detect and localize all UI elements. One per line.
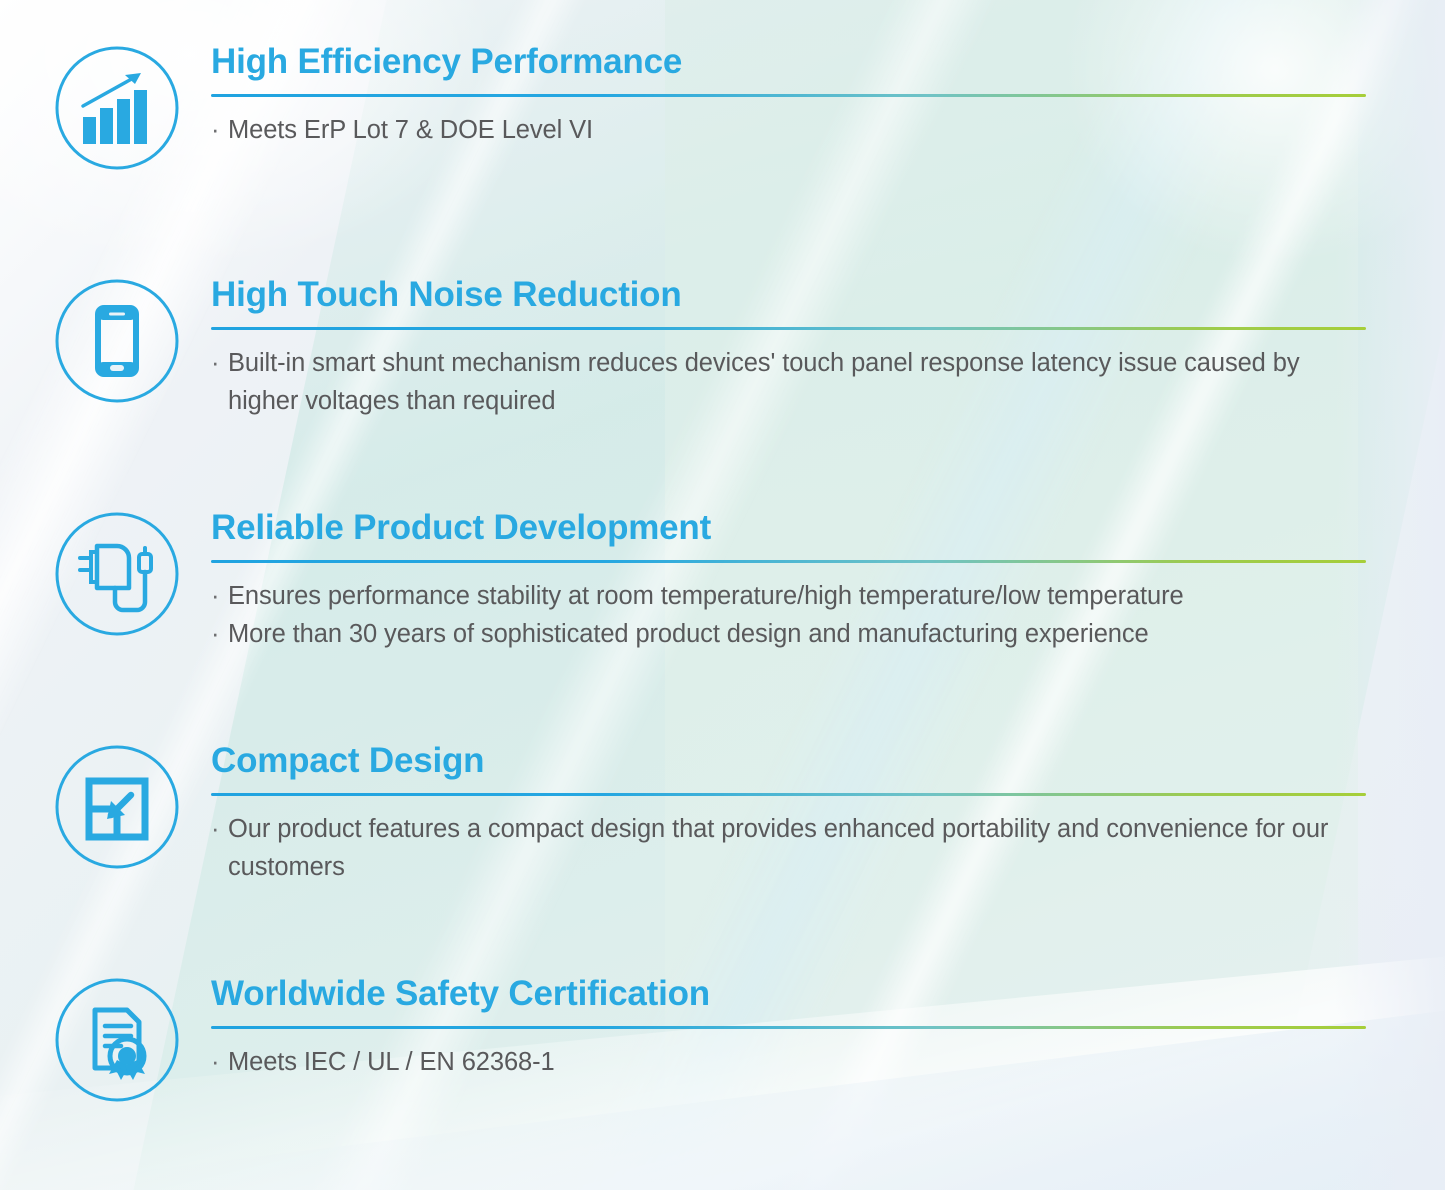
- list-item: · Ensures performance stability at room …: [211, 577, 1366, 615]
- bullet-text: More than 30 years of sophisticated prod…: [228, 615, 1366, 653]
- feature-row-compact-design: Compact Design · Our product features a …: [0, 743, 1445, 886]
- smartphone-icon: [53, 277, 181, 405]
- feature-bullet-list: · Built-in smart shunt mechanism reduces…: [211, 344, 1366, 421]
- certificate-seal-icon: [53, 976, 181, 1104]
- feature-row-reliable-product-development: Reliable Product Development · Ensures p…: [0, 510, 1445, 653]
- bullet-text: Meets ErP Lot 7 & DOE Level VI: [228, 111, 1366, 149]
- bullet-marker: ·: [211, 810, 228, 848]
- feature-content: Worldwide Safety Certification · Meets I…: [211, 976, 1445, 1081]
- feature-title: Worldwide Safety Certification: [211, 976, 1366, 1013]
- bullet-text: Our product features a compact design th…: [228, 810, 1366, 887]
- list-item: · Meets IEC / UL / EN 62368-1: [211, 1043, 1366, 1081]
- feature-content: High Touch Noise Reduction · Built-in sm…: [211, 277, 1445, 420]
- feature-row-high-efficiency-performance: High Efficiency Performance · Meets ErP …: [0, 44, 1445, 172]
- feature-bullet-list: · Meets IEC / UL / EN 62368-1: [211, 1043, 1366, 1081]
- feature-title: High Touch Noise Reduction: [211, 277, 1366, 314]
- feature-row-worldwide-safety-certification: Worldwide Safety Certification · Meets I…: [0, 976, 1445, 1104]
- feature-title: Reliable Product Development: [211, 510, 1366, 547]
- feature-divider: [211, 1026, 1366, 1029]
- feature-divider: [211, 560, 1366, 563]
- feature-row-high-touch-noise-reduction: High Touch Noise Reduction · Built-in sm…: [0, 277, 1445, 420]
- feature-content: Compact Design · Our product features a …: [211, 743, 1445, 886]
- bullet-marker: ·: [211, 1043, 228, 1081]
- feature-content: High Efficiency Performance · Meets ErP …: [211, 44, 1445, 149]
- bullet-marker: ·: [211, 615, 228, 653]
- feature-title: Compact Design: [211, 743, 1366, 780]
- bullet-marker: ·: [211, 577, 228, 615]
- feature-bullet-list: · Ensures performance stability at room …: [211, 577, 1366, 654]
- bullet-marker: ·: [211, 344, 228, 382]
- bullet-marker: ·: [211, 111, 228, 149]
- bullet-text: Ensures performance stability at room te…: [228, 577, 1366, 615]
- feature-icon-slot: [52, 277, 182, 405]
- feature-divider: [211, 94, 1366, 97]
- feature-bullet-list: · Our product features a compact design …: [211, 810, 1366, 887]
- feature-title: High Efficiency Performance: [211, 44, 1366, 81]
- feature-highlights-page: High Efficiency Performance · Meets ErP …: [0, 0, 1445, 1190]
- list-item: · Meets ErP Lot 7 & DOE Level VI: [211, 111, 1366, 149]
- power-adapter-icon: [53, 510, 181, 638]
- bar-chart-growth-icon: [53, 44, 181, 172]
- list-item: · Built-in smart shunt mechanism reduces…: [211, 344, 1366, 421]
- feature-divider: [211, 327, 1366, 330]
- feature-icon-slot: [52, 976, 182, 1104]
- bullet-text: Built-in smart shunt mechanism reduces d…: [228, 344, 1366, 421]
- bullet-text: Meets IEC / UL / EN 62368-1: [228, 1043, 1366, 1081]
- feature-bullet-list: · Meets ErP Lot 7 & DOE Level VI: [211, 111, 1366, 149]
- feature-content: Reliable Product Development · Ensures p…: [211, 510, 1445, 653]
- feature-icon-slot: [52, 743, 182, 871]
- feature-divider: [211, 793, 1366, 796]
- list-item: · More than 30 years of sophisticated pr…: [211, 615, 1366, 653]
- list-item: · Our product features a compact design …: [211, 810, 1366, 887]
- feature-icon-slot: [52, 510, 182, 638]
- compact-resize-icon: [53, 743, 181, 871]
- feature-icon-slot: [52, 44, 182, 172]
